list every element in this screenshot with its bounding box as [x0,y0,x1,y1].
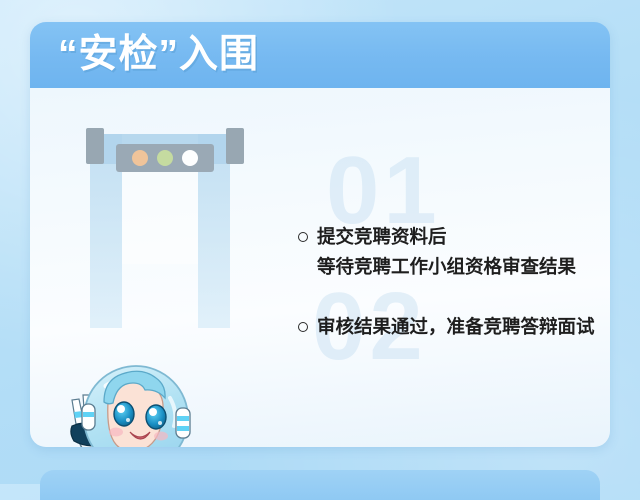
page-title: “安检”入围 [58,30,259,80]
circle-outline-icon [298,322,308,332]
next-card-peek [40,470,600,500]
list-item-line: 等待竞聘工作小组资格审查结果 [317,252,608,282]
card-header: “安检”入围 [30,22,610,88]
list-item: 审核结果通过，准备竞聘答辩面试 [298,312,608,342]
astronaut-robot-mascot [48,346,223,447]
indicator-light-white-icon [182,150,198,166]
content-card: “安检”入围 01 02 [30,22,610,447]
mascot-svg [48,346,223,447]
gate-cap-left [86,128,104,164]
mascot-face [104,371,168,447]
indicator-light-green-icon [157,150,173,166]
gate-cap-right [226,128,244,164]
indicator-light-orange-icon [132,150,148,166]
bullet-list: 提交竞聘资料后 等待竞聘工作小组资格审查结果 审核结果通过，准备竞聘答辩面试 [298,222,608,372]
list-item: 提交竞聘资料后 等待竞聘工作小组资格审查结果 [298,222,608,282]
gate-indicator-panel [116,144,214,172]
list-item-line: 审核结果通过，准备竞聘答辩面试 [317,312,608,342]
list-item-text: 提交竞聘资料后 等待竞聘工作小组资格审查结果 [317,222,608,282]
list-item-text: 审核结果通过，准备竞聘答辩面试 [317,312,608,342]
security-gate-illustration [60,108,260,328]
circle-outline-icon [298,232,308,242]
list-item-line: 提交竞聘资料后 [317,222,608,252]
gate-opening [122,164,198,264]
card-body: 01 02 [30,88,610,447]
